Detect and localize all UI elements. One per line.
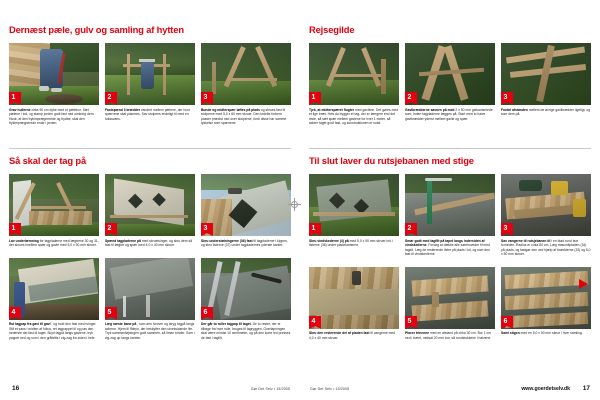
step-card[interactable]: 1 Lav underlæmning for tagpladerne med l… xyxy=(9,174,99,248)
step-caption: Rul tagpap fra gavl til gavl , og hold d… xyxy=(9,322,99,340)
section-rejsegilde: Rejsegilde 1 xyxy=(309,24,591,126)
photo-art-next-felt-strip xyxy=(105,258,195,320)
photo-art-digging-holes xyxy=(9,43,99,105)
page-number-left: 16 xyxy=(12,385,19,392)
step-caption: Bunde og midterspær løftes på plads og s… xyxy=(201,108,291,126)
right-page: Rejsegilde 1 xyxy=(300,0,600,400)
step-card[interactable]: 3 Bunde og midterspær løftes på plads og… xyxy=(201,43,291,126)
step-caption: Læg næste bane på , som den forover og s… xyxy=(105,322,195,340)
step-grid-row1: 1 Skru vindskederne (4) på med 5,0 x 50 … xyxy=(309,174,591,257)
step-photo[interactable]: 3 xyxy=(501,43,591,105)
step-card[interactable]: 2 Spænd tagpladerne på med skruetvinger,… xyxy=(105,174,195,248)
photo-art-placing-rungs xyxy=(405,267,495,329)
step-grid-row2: 4 Skru den resterende del af pladen fast… xyxy=(309,267,591,341)
step-photo[interactable]: 2 xyxy=(105,43,195,105)
step-photo[interactable]: 2 xyxy=(405,43,495,105)
section-divider xyxy=(309,148,591,149)
section-heading: Dernæst pæle, gulv og samling af hytten xyxy=(9,24,291,35)
step-caption: Gavlbrædderne savnes på med 2 x 50 mm ga… xyxy=(405,108,495,122)
continue-arrow-icon xyxy=(579,279,588,289)
section-heading: Til slut laver du rutsjebanen med stige xyxy=(309,155,591,166)
step-caption: Smør godt med tagfilt på tapet langs ind… xyxy=(405,239,495,257)
photo-art-bargeboards xyxy=(309,174,399,236)
caption-lead: Skru vindskederne (4) på xyxy=(309,239,349,243)
photo-art-screwing-supports xyxy=(201,174,291,236)
step-card[interactable]: 4 Skru den resterende del af pladen fast… xyxy=(309,267,399,341)
section-heading: Så skal der tag på xyxy=(9,155,291,166)
imprint-left: Gør Det Selv • 15/2005 xyxy=(251,387,290,391)
caption-lead: Rul tagpap fra gavl til gavl xyxy=(9,322,51,326)
step-caption: Fordel afstanden mellem de øvrige gavlbr… xyxy=(501,108,591,117)
page-number-right: 17 xyxy=(583,385,590,392)
step-grid: 1 Tjek, at midterspæret flugter med gavl… xyxy=(309,43,591,126)
caption-lead: Læg næste bane på xyxy=(105,322,136,326)
caption-lead: Sav vangerne til rutsjebanen til xyxy=(501,239,550,243)
step-photo[interactable]: 3 xyxy=(201,174,291,236)
step-caption: Saml stigen med en 5,0 x 50 mm skrue i h… xyxy=(501,331,591,336)
step-card[interactable]: 2 Smør godt med tagfilt på tapet langs i… xyxy=(405,174,495,257)
step-photo[interactable]: 1 xyxy=(9,43,99,105)
section-poles-floor-assembly: Dernæst pæle, gulv og samling af hytten xyxy=(9,24,291,126)
caption-lead: Fastspænd 3 brædder xyxy=(105,108,140,112)
step-caption: Skru den resterende del af pladen fast t… xyxy=(309,331,399,340)
step-photo[interactable]: 4 xyxy=(309,267,399,329)
caption-lead: Placer trinnene xyxy=(405,331,429,335)
step-photo[interactable]: 5 xyxy=(405,267,495,329)
step-card[interactable]: 5 Placer trinnene med en afstand på cirk… xyxy=(405,267,495,341)
left-page: Dernæst pæle, gulv og samling af hytten xyxy=(0,0,300,400)
caption-lead: Skru den resterende del af pladen fast xyxy=(309,331,370,335)
step-grid-row1: 1 Lav underlæmning for tagpladerne med l… xyxy=(9,174,291,248)
caption-lead: Spænd tagpladerne på xyxy=(105,239,141,243)
step-photo[interactable]: 6 xyxy=(201,258,291,320)
step-grid: 1 Grav hullerne cirka 90 cm dybe med et … xyxy=(9,43,291,126)
step-card[interactable]: 4 Rul tagpap fra gavl til gavl , og hold… xyxy=(9,258,99,341)
step-card[interactable]: 3 Sav vangerne til rutsjebanen til i en … xyxy=(501,174,591,257)
caption-lead: Grav hullerne xyxy=(9,108,31,112)
step-caption: Grav hullerne cirka 90 cm dybe med et pæ… xyxy=(9,108,99,126)
step-card[interactable]: 3 Skru understøtningerne (36) fast til t… xyxy=(201,174,291,248)
step-caption: Der går to ruller tagpap til taget. De t… xyxy=(201,322,291,340)
step-caption: Placer trinnene med en afstand på cirka … xyxy=(405,331,495,340)
step-caption: Tjek, at midterspæret flugter med gavlen… xyxy=(309,108,399,126)
step-caption: Sav vangerne til rutsjebanen til i en bl… xyxy=(501,239,591,257)
step-card[interactable]: 5 Læg næste bane på , som den forover og… xyxy=(105,258,195,341)
caption-text: med en 5,0 x 50 mm skrue i hver samling. xyxy=(521,331,583,335)
section-slide-ladder: Til slut laver du rutsjebanen med stige xyxy=(309,148,591,341)
step-photo[interactable]: 1 xyxy=(9,174,99,236)
step-photo[interactable]: 6 xyxy=(501,267,591,329)
photo-art-ladder-on-roof xyxy=(201,258,291,320)
section-divider xyxy=(9,148,291,149)
caption-lead: Fordel afstanden xyxy=(501,108,528,112)
step-card[interactable]: 3 Fordel afstanden mellem de øvrige gavl… xyxy=(501,43,591,126)
photo-art-raising-rafters xyxy=(201,43,291,105)
step-card[interactable]: 1 Grav hullerne cirka 90 cm dybe med et … xyxy=(9,43,99,126)
step-photo[interactable]: 1 xyxy=(309,43,399,105)
step-card[interactable]: 6 Der går to ruller tagpap til taget. De… xyxy=(201,258,291,341)
step-card[interactable]: 2 Fastspænd 3 brædder vandret mellem pæl… xyxy=(105,43,195,126)
step-card[interactable]: 1 Skru vindskederne (4) på med 5,0 x 50 … xyxy=(309,174,399,257)
step-photo[interactable]: 4 xyxy=(9,258,99,320)
step-photo[interactable]: 2 xyxy=(105,174,195,236)
registration-mark-icon xyxy=(288,198,301,211)
magazine-spread: Dernæst pæle, gulv og samling af hytten xyxy=(0,0,600,400)
website-url[interactable]: www.goerdetselv.dk xyxy=(521,386,570,392)
section-roof: Så skal der tag på xyxy=(9,148,291,341)
caption-lead: Saml stigen xyxy=(501,331,520,335)
step-caption: Spænd tagpladerne på med skruetvinger, o… xyxy=(105,239,195,248)
caption-lead: Lav underlæmning xyxy=(9,239,39,243)
step-photo[interactable]: 5 xyxy=(105,258,195,320)
step-photo[interactable]: 2 xyxy=(405,174,495,236)
step-caption: Skru vindskederne (4) på med 5,0 x 50 mm… xyxy=(309,239,399,248)
step-card[interactable]: 2 Gavlbrædderne savnes på med 2 x 50 mm … xyxy=(405,43,495,126)
caption-lead: Skru understøtningerne (36) fast xyxy=(201,239,253,243)
photo-art-applying-sealant xyxy=(405,174,495,236)
photo-art-assembling-ladder xyxy=(501,267,591,329)
photo-art-spacing-boards xyxy=(501,43,591,105)
photo-art-fastening-boards xyxy=(105,43,195,105)
step-caption: Lav underlæmning for tagpladerne med læg… xyxy=(9,239,99,248)
step-caption: Skru understøtningerne (36) fast til tag… xyxy=(201,239,291,248)
photo-art-clamping-panels xyxy=(105,174,195,236)
photo-art-roof-battens xyxy=(9,174,99,236)
section-heading: Rejsegilde xyxy=(309,24,591,35)
caption-lead: Gavlbrædderne savnes på med xyxy=(405,108,454,112)
imprint-right: Gør Det Selv • 15/2005 xyxy=(310,387,349,391)
step-card[interactable]: 1 Tjek, at midterspæret flugter med gavl… xyxy=(309,43,399,126)
step-photo[interactable]: 3 xyxy=(201,43,291,105)
step-photo[interactable]: 3 xyxy=(501,174,591,236)
caption-lead: Der går to ruller tagpap til taget. xyxy=(201,322,252,326)
step-grid-row2: 4 Rul tagpap fra gavl til gavl , og hold… xyxy=(9,258,291,341)
step-caption: Fastspænd 3 brædder vandret mellem pælen… xyxy=(105,108,195,122)
photo-art-rolling-felt xyxy=(9,258,99,320)
step-photo[interactable]: 1 xyxy=(309,174,399,236)
caption-lead: Bunde og midterspær løftes på plads xyxy=(201,108,260,112)
caption-lead: Tjek, at midterspæret flugter xyxy=(309,108,354,112)
step-card[interactable]: 6 Saml stigen med en 5,0 x 50 mm skrue i… xyxy=(501,267,591,341)
photo-art-gable-boards xyxy=(405,43,495,105)
photo-art-screwing-plate xyxy=(309,267,399,329)
registration-ring xyxy=(291,201,298,208)
photo-art-cutting-slide-sides xyxy=(501,174,591,236)
photo-art-checking-alignment xyxy=(309,43,399,105)
